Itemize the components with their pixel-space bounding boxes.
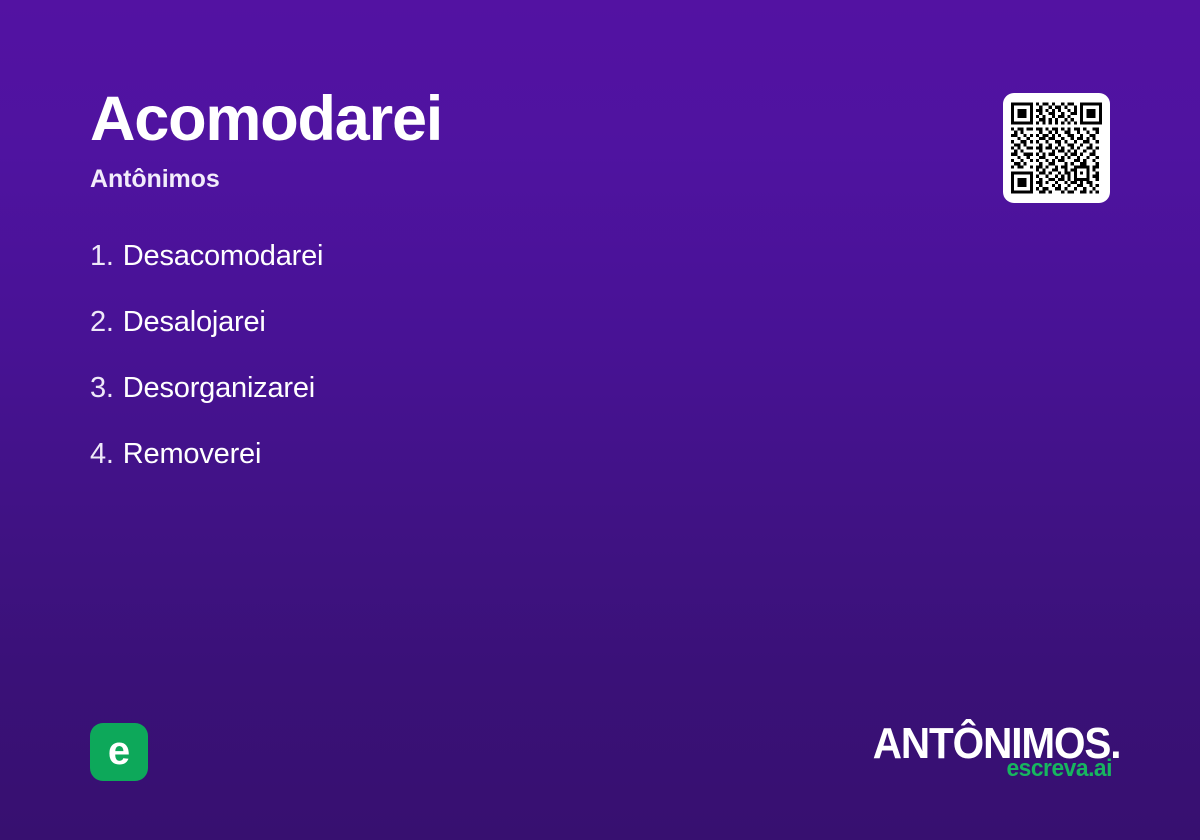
list-item: 1. Desacomodarei [90,238,910,304]
brand-mark-letter: e [108,731,130,771]
list-item: 2. Desalojarei [90,304,910,370]
list-item-index: 1. [90,238,114,274]
list-item-index: 2. [90,304,114,340]
header: Acomodarei Antônimos [90,88,850,192]
list-item-word: Desorganizarei [123,370,315,406]
page-title: Acomodarei [90,88,850,151]
brand-wordmark: ANTÔNIMOS. escreva.ai [852,722,1112,784]
list-item-index: 3. [90,370,114,406]
list-item: 4. Removerei [90,436,910,502]
qr-code[interactable] [1003,93,1110,203]
list-item-word: Desalojarei [123,304,266,340]
list-item-index: 4. [90,436,114,472]
antonyms-card: Acomodarei Antônimos 1. Desacomodarei 2.… [0,0,1200,840]
qr-code-icon [1011,101,1102,195]
escreva-logo-icon[interactable]: e [90,723,148,781]
list-item-word: Removerei [123,436,261,472]
wordmark-domain: escreva.ai [865,757,1112,781]
page-subtitle: Antônimos [90,167,850,192]
antonyms-list: 1. Desacomodarei 2. Desalojarei 3. Desor… [90,238,910,502]
list-item: 3. Desorganizarei [90,370,910,436]
list-item-word: Desacomodarei [123,238,324,274]
